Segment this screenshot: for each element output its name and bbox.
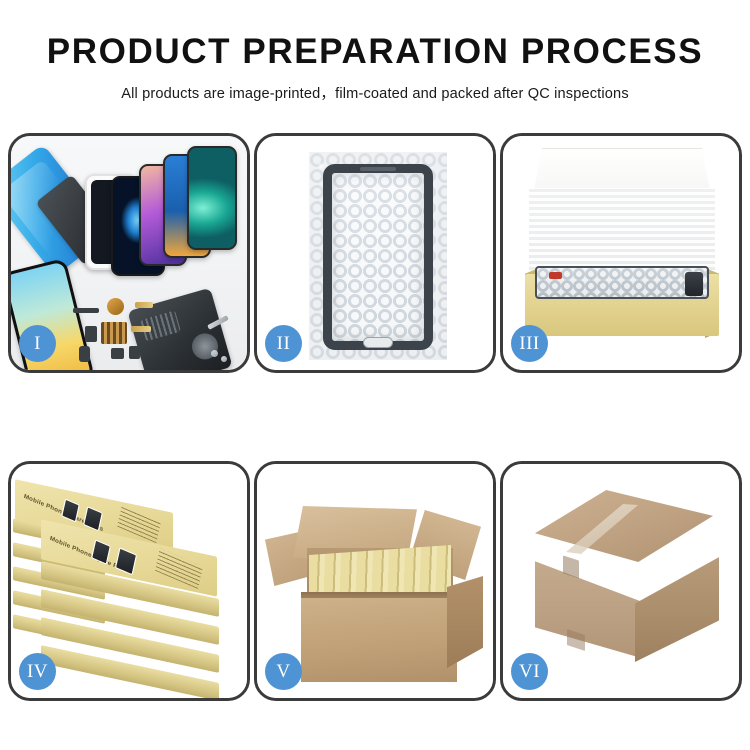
step-badge-4: IV [19,653,56,690]
part-button-flex [85,326,97,342]
step-image-5: V [257,464,493,698]
part-speaker-module [129,346,140,359]
step-image-3: III [503,136,739,370]
part-copper-coil [107,298,124,315]
step-image-1: I [11,136,247,370]
carton-front-face [301,598,457,682]
step-image-4: Mobile Phone Spare Parts Mobile Phone Sp… [11,464,247,698]
step-image-6: VI [503,464,739,698]
step-badge-label-3: III [519,333,539,355]
step-badge-label-2: II [277,333,291,355]
part-connector-grid [101,322,127,344]
header: PRODUCT PREPARATION PROCESS All products… [0,0,750,103]
earpiece-slot [360,167,396,171]
packed-phone-screen [535,266,709,299]
step-panel-4[interactable]: Mobile Phone Spare Parts Mobile Phone Sp… [8,461,250,701]
bubble-wrap-sheet [309,152,447,360]
part-screw-b [221,356,227,362]
page-subtitle: All products are image-printed，film-coat… [0,82,750,103]
part-flex-cable-a [135,302,153,308]
step-badge-label-5: V [276,661,290,683]
step-panel-5[interactable]: V [254,461,496,701]
step-badge-3: III [511,325,548,362]
step-badge-1: I [19,325,56,362]
product-preparation-infographic: PRODUCT PREPARATION PROCESS All products… [0,0,750,750]
step-badge-2: II [265,325,302,362]
phone-teal-swirl [187,146,237,250]
box-spec-lines-lower [155,548,203,589]
wrapped-phone-screen [323,164,433,350]
step-badge-label-1: I [34,333,41,355]
step-badge-label-4: IV [27,661,48,683]
step-panel-1[interactable]: I [8,133,250,373]
part-camera-module [111,348,124,359]
step-image-2: II [257,136,493,370]
part-earpiece-mesh [73,308,99,313]
step-badge-label-6: VI [519,661,540,683]
red-label-sticker [549,272,562,279]
part-screw-a [211,350,218,357]
step-panel-6[interactable]: VI [500,461,742,701]
step-badge-5: V [265,653,302,690]
part-flex-cable-b [131,326,151,332]
step-panel-2[interactable]: II [254,133,496,373]
page-title: PRODUCT PREPARATION PROCESS [0,34,750,71]
step-badge-6: VI [511,653,548,690]
steps-grid: I II [8,133,742,701]
home-button [363,337,393,348]
step-panel-3[interactable]: III [500,133,742,373]
part-sim-tray [79,346,90,362]
